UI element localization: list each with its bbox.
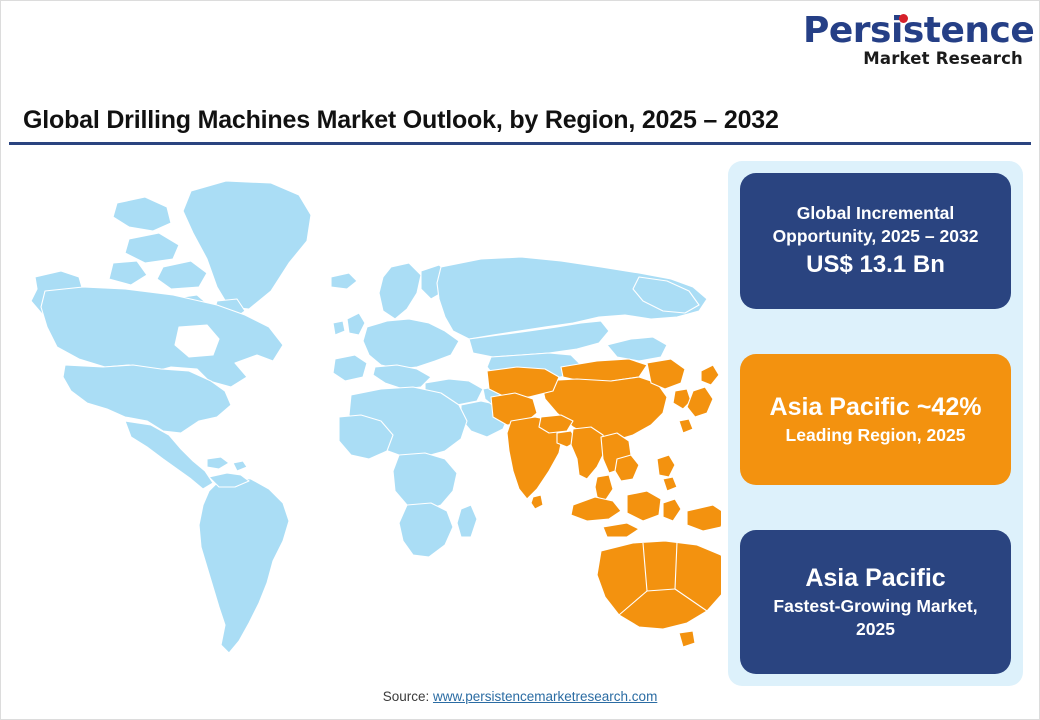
brand-tagline-text: Market Research <box>803 51 1023 68</box>
brand-dot-icon <box>899 14 908 23</box>
page-title: Global Drilling Machines Market Outlook,… <box>23 106 779 135</box>
card-1-line-2: Opportunity, 2025 – 2032 <box>773 225 979 248</box>
card-leading-region[interactable]: Asia Pacific ~42% Leading Region, 2025 <box>740 354 1011 485</box>
title-divider <box>9 142 1031 145</box>
source-label: Source: <box>383 689 430 704</box>
card-1-line-1: Global Incremental <box>797 202 955 225</box>
card-3-caption-line-1: Fastest-Growing Market, <box>773 595 977 618</box>
card-3-value: Asia Pacific <box>805 563 945 594</box>
card-2-caption: Leading Region, 2025 <box>786 424 966 447</box>
infographic-page: Persistence Market Research Global Drill… <box>0 0 1040 720</box>
brand-name-text: Persistence <box>803 13 1034 49</box>
source-line: Source: www.persistencemarketresearch.co… <box>1 689 1039 704</box>
world-map-svg <box>21 159 721 679</box>
card-2-value: Asia Pacific ~42% <box>770 392 982 423</box>
source-link[interactable]: www.persistencemarketresearch.com <box>433 689 657 704</box>
card-1-value: US$ 13.1 Bn <box>806 249 945 280</box>
card-fastest-growing-market[interactable]: Asia Pacific Fastest-Growing Market, 202… <box>740 530 1011 674</box>
brand-logo: Persistence Market Research <box>803 13 1023 75</box>
card-global-incremental-opportunity[interactable]: Global Incremental Opportunity, 2025 – 2… <box>740 173 1011 309</box>
stat-panel: Global Incremental Opportunity, 2025 – 2… <box>728 161 1023 686</box>
card-3-caption-line-2: 2025 <box>856 618 895 641</box>
map-highlight-asia-pacific <box>487 359 721 647</box>
world-map <box>21 159 721 679</box>
